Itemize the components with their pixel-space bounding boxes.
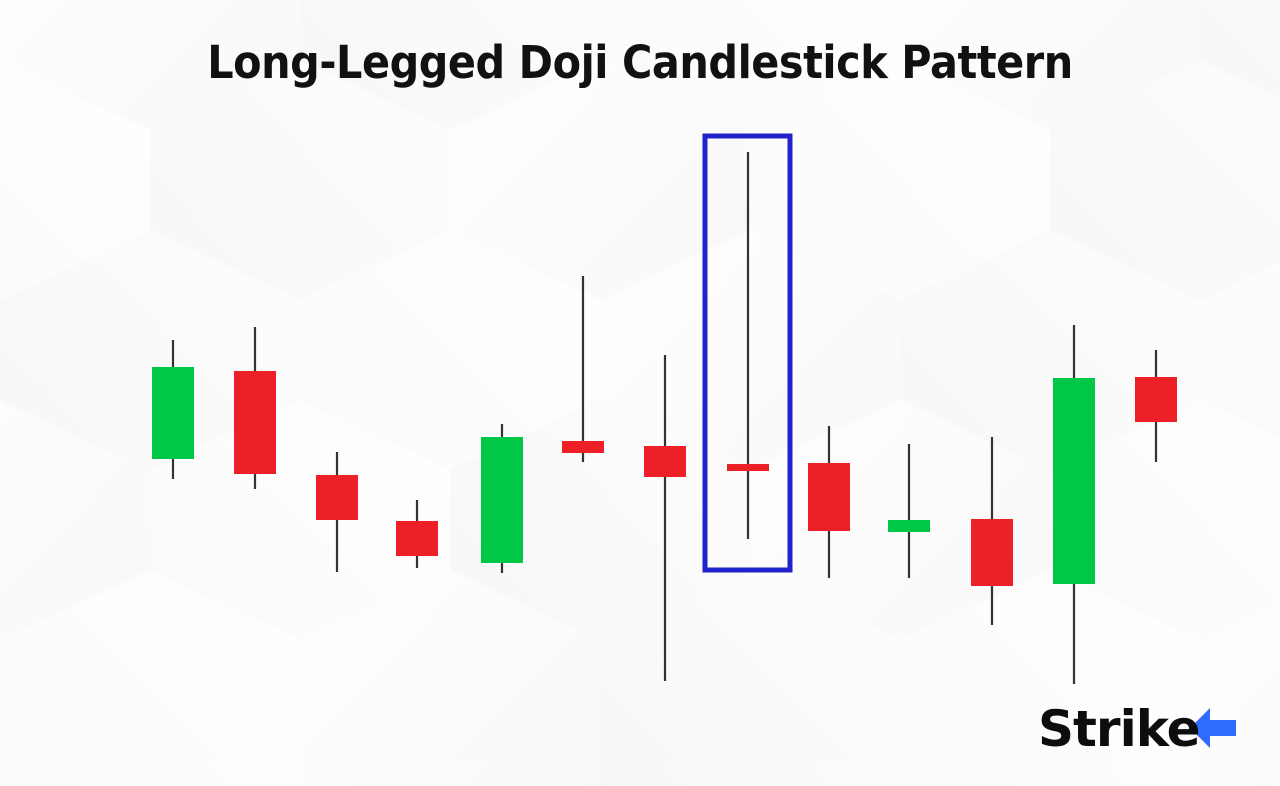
candle-8-long-legged-doji <box>727 152 769 539</box>
candle-body <box>727 464 769 471</box>
strike-logo: Strike <box>1038 698 1238 762</box>
candle-body <box>644 446 686 477</box>
candlestick-chart <box>0 0 1280 786</box>
candle-3-bearish <box>316 452 358 572</box>
candle-body <box>808 463 850 531</box>
candles-layer <box>152 152 1177 684</box>
candle-5-bullish <box>481 424 523 573</box>
candle-body <box>888 520 930 532</box>
candle-9-bearish <box>808 426 850 578</box>
page-title: Long-Legged Doji Candlestick Pattern <box>51 36 1229 89</box>
candle-4-bearish <box>396 500 438 568</box>
infographic-page: Long-Legged Doji Candlestick Pattern Str… <box>0 0 1280 786</box>
candle-body <box>234 371 276 474</box>
candle-12-bullish <box>1053 325 1095 684</box>
candle-body <box>562 441 604 453</box>
candle-body <box>152 367 194 459</box>
candle-body <box>396 521 438 556</box>
candle-body <box>316 475 358 520</box>
candlestick-chart-svg <box>0 0 1280 786</box>
candle-body <box>481 437 523 563</box>
candle-2-bearish <box>234 327 276 489</box>
brand-wordmark: Strike <box>1038 700 1200 758</box>
candle-body <box>971 519 1013 586</box>
candle-body <box>1135 377 1177 422</box>
candle-7-bearish <box>644 355 686 681</box>
candle-10-bullish-doji <box>888 444 930 578</box>
candle-11-bearish <box>971 437 1013 625</box>
candle-13-bearish <box>1135 350 1177 462</box>
candle-6-bearish-doji <box>562 276 604 462</box>
candle-1-bullish <box>152 340 194 479</box>
candle-body <box>1053 378 1095 584</box>
